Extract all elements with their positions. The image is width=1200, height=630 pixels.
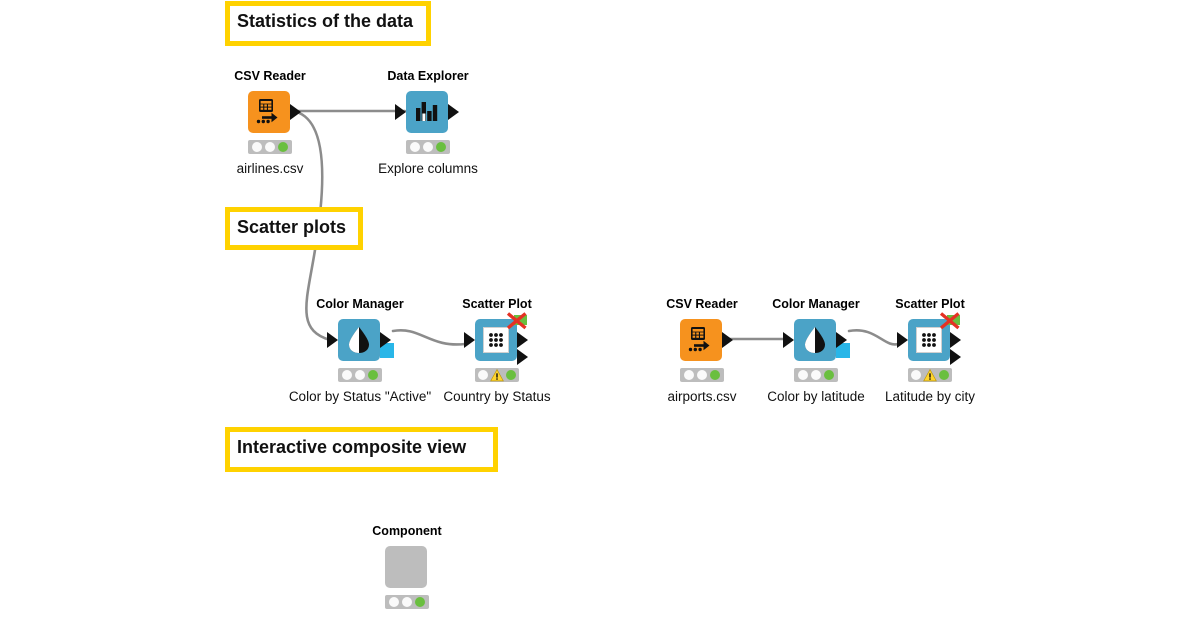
input-port-icon[interactable] (327, 332, 338, 348)
data-explorer-icon[interactable] (406, 91, 448, 133)
node-color-manager-latitude[interactable]: Color Manager Color by latitude (756, 298, 876, 403)
node-component[interactable]: Component (347, 525, 467, 609)
status-dot-executed (506, 370, 516, 380)
status-dot-idle (811, 370, 821, 380)
node-title: Scatter Plot (462, 298, 531, 311)
node-color-manager-status[interactable]: Color Manager Color by Status "Active" (300, 298, 420, 403)
warning-icon (923, 369, 937, 381)
status-dot-executed (368, 370, 378, 380)
status-dot-idle (265, 142, 275, 152)
input-port-icon[interactable] (395, 104, 406, 120)
node-body[interactable] (680, 319, 724, 361)
status-dot-executed (710, 370, 720, 380)
color-manager-icon[interactable] (794, 319, 836, 361)
node-status-bar (908, 368, 952, 382)
color-manager-icon[interactable] (338, 319, 380, 361)
node-caption: airlines.csv (237, 162, 304, 176)
node-body[interactable] (475, 319, 519, 361)
node-body[interactable] (248, 91, 292, 133)
output-port-icon[interactable] (836, 332, 847, 348)
status-dot-executed (436, 142, 446, 152)
node-data-explorer[interactable]: Data Explorer Explore columns (368, 70, 488, 175)
node-status-bar (385, 595, 429, 609)
output-port-icon[interactable] (722, 332, 733, 348)
annotation-label: Scatter plots (230, 212, 346, 236)
interactive-view-marker-icon (939, 312, 961, 332)
workflow-annotation[interactable]: Interactive composite view (225, 427, 498, 472)
node-scatter-plot-latitude[interactable]: Scatter Plot Latitude by city (870, 298, 990, 403)
annotation-label: Interactive composite view (230, 432, 466, 456)
node-title: Scatter Plot (895, 298, 964, 311)
node-caption: Country by Status (443, 390, 550, 404)
node-csv-reader-airports[interactable]: CSV Reader airports.csv (642, 298, 762, 403)
status-dot-idle (798, 370, 808, 380)
output-port-icon[interactable] (517, 332, 528, 348)
node-caption: Color by latitude (767, 390, 865, 404)
workflow-annotation[interactable]: Statistics of the data (225, 1, 431, 46)
status-dot-idle (478, 370, 488, 380)
warning-icon (490, 369, 504, 381)
component-icon[interactable] (385, 546, 427, 588)
input-port-icon[interactable] (897, 332, 908, 348)
node-title: Data Explorer (387, 70, 468, 83)
output-port-icon[interactable] (380, 332, 391, 348)
node-caption: airports.csv (667, 390, 736, 404)
node-title: Color Manager (316, 298, 404, 311)
status-dot-idle (355, 370, 365, 380)
workflow-annotation[interactable]: Scatter plots (225, 207, 363, 250)
node-caption: Explore columns (378, 162, 478, 176)
status-dot-executed (939, 370, 949, 380)
csv-reader-icon[interactable] (680, 319, 722, 361)
annotation-label: Statistics of the data (230, 6, 413, 30)
node-status-bar (475, 368, 519, 382)
node-scatter-plot-country[interactable]: Scatter Plot Country by Status (437, 298, 557, 403)
node-body[interactable] (385, 546, 429, 588)
status-dot-idle (410, 142, 420, 152)
node-caption: Latitude by city (885, 390, 975, 404)
status-dot-idle (389, 597, 399, 607)
status-dot-executed (278, 142, 288, 152)
output-port-icon[interactable] (448, 104, 459, 120)
node-status-bar (794, 368, 838, 382)
output-port-icon[interactable] (950, 332, 961, 348)
node-caption: Color by Status "Active" (289, 390, 431, 404)
status-dot-executed (824, 370, 834, 380)
output-port-icon[interactable] (290, 104, 301, 120)
status-dot-idle (911, 370, 921, 380)
node-body[interactable] (406, 91, 450, 133)
node-csv-reader-airlines[interactable]: CSV Reader airlines.csv (210, 70, 330, 175)
node-title: CSV Reader (234, 70, 306, 83)
input-port-icon[interactable] (783, 332, 794, 348)
node-body[interactable] (908, 319, 952, 361)
node-status-bar (680, 368, 724, 382)
node-body[interactable] (794, 319, 838, 361)
node-status-bar (406, 140, 450, 154)
status-dot-idle (697, 370, 707, 380)
output-port-icon[interactable] (517, 349, 528, 365)
status-dot-idle (402, 597, 412, 607)
node-body[interactable] (338, 319, 382, 361)
interactive-view-marker-icon (506, 312, 528, 332)
node-title: CSV Reader (666, 298, 738, 311)
connection-layer (0, 0, 1200, 630)
workflow-canvas[interactable]: Statistics of the dataScatter plotsInter… (0, 0, 1200, 630)
status-dot-idle (423, 142, 433, 152)
status-dot-idle (684, 370, 694, 380)
node-status-bar (338, 368, 382, 382)
status-dot-idle (342, 370, 352, 380)
node-title: Component (372, 525, 441, 538)
csv-reader-icon[interactable] (248, 91, 290, 133)
node-title: Color Manager (772, 298, 860, 311)
status-dot-executed (415, 597, 425, 607)
node-status-bar (248, 140, 292, 154)
status-dot-idle (252, 142, 262, 152)
input-port-icon[interactable] (464, 332, 475, 348)
output-port-icon[interactable] (950, 349, 961, 365)
